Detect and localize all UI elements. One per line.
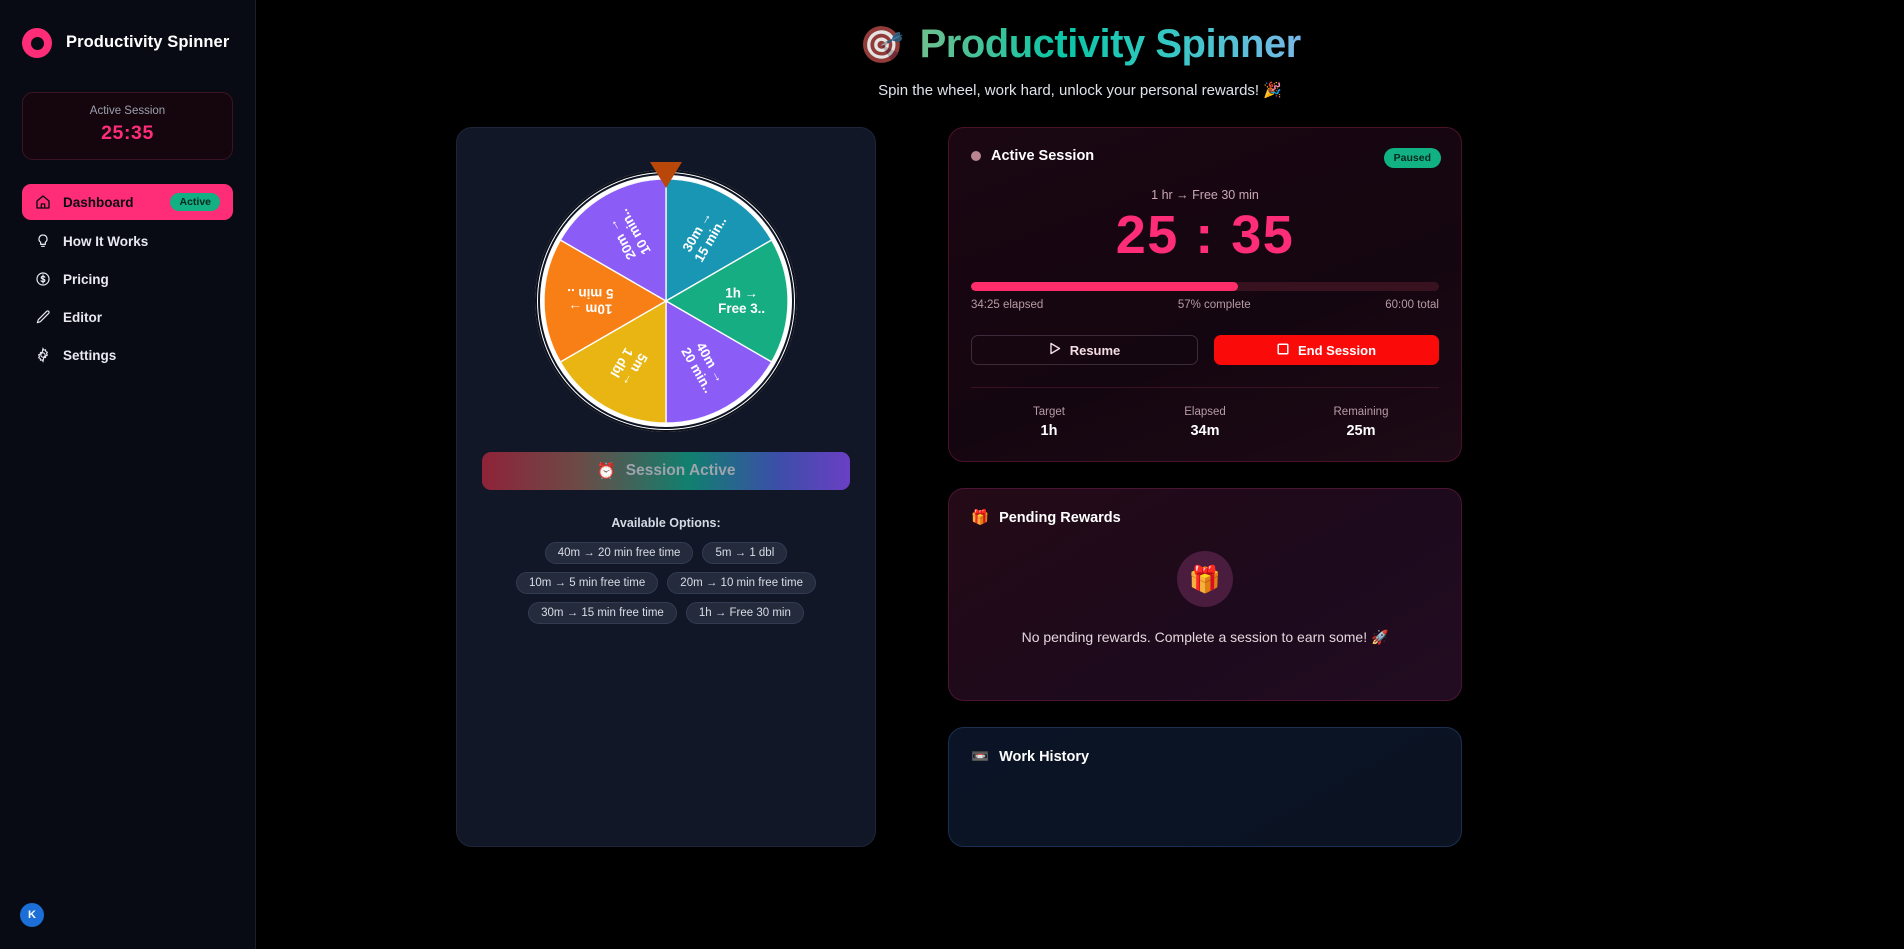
- pending-rewards-title-row: 🎁 Pending Rewards: [971, 509, 1439, 526]
- page-title: 🎯 Productivity Spinner: [859, 22, 1301, 67]
- avatar[interactable]: K: [20, 903, 44, 927]
- option-chip[interactable]: 40m → 20 min free time: [545, 542, 694, 564]
- stat-target: Target 1h: [971, 406, 1127, 439]
- complete-label: 57% complete: [1178, 299, 1251, 311]
- sidebar: Productivity Spinner Active Session 25:3…: [0, 0, 256, 949]
- stat-key: Remaining: [1283, 406, 1439, 418]
- app-root: Productivity Spinner Active Session 25:3…: [0, 0, 1904, 949]
- stat-remaining: Remaining 25m: [1283, 406, 1439, 439]
- option-chip[interactable]: 5m → 1 dbl: [702, 542, 787, 564]
- status-badge: Active: [170, 193, 220, 211]
- page-title-text: Productivity Spinner: [920, 22, 1301, 67]
- pencil-icon: [35, 309, 51, 325]
- sidebar-session-time: 25:35: [33, 122, 222, 145]
- status-dot-icon: [971, 151, 981, 161]
- spinner-ring-icon: [22, 28, 52, 58]
- pending-rewards-empty-state: 🎁 No pending rewards. Complete a session…: [949, 551, 1461, 646]
- option-chip[interactable]: 1h → Free 30 min: [686, 602, 804, 624]
- play-icon: [1049, 342, 1061, 358]
- sidebar-active-session-box: Active Session 25:35: [22, 92, 233, 160]
- active-session-title-row: Active Session: [971, 148, 1439, 164]
- right-column: Active Session Paused 1 hr → Free 30 min…: [948, 127, 1462, 847]
- spin-button-label: Session Active: [626, 462, 736, 480]
- sidebar-item-label: Editor: [63, 310, 220, 325]
- available-options-title: Available Options:: [481, 516, 851, 530]
- brand[interactable]: Productivity Spinner: [22, 28, 233, 58]
- wheel-segment-label: 10m →5 min ..: [567, 286, 613, 316]
- lightbulb-icon: [35, 233, 51, 249]
- session-progress-meta: 34:25 elapsed 57% complete 60:00 total: [971, 299, 1439, 311]
- sidebar-session-label: Active Session: [33, 105, 222, 117]
- wheel-outer-ring: 30m →15 min..1h →Free 3..40m →20 min..5m…: [535, 170, 797, 432]
- total-label: 60:00 total: [1385, 299, 1439, 311]
- stat-key: Elapsed: [1127, 406, 1283, 418]
- page-header: 🎯 Productivity Spinner Spin the wheel, w…: [256, 0, 1904, 99]
- work-history-title-row: 📼 Work History: [971, 748, 1439, 765]
- wheel-wrapper: 30m →15 min..1h →Free 3..40m →20 min..5m…: [535, 154, 797, 426]
- sidebar-item-settings[interactable]: Settings: [22, 338, 233, 372]
- spin-button[interactable]: ⏰ Session Active: [482, 452, 850, 490]
- session-reward-line: 1 hr → Free 30 min: [971, 188, 1439, 202]
- work-history-card: 📼 Work History: [948, 727, 1462, 847]
- sidebar-item-pricing[interactable]: Pricing: [22, 262, 233, 296]
- brand-name: Productivity Spinner: [66, 31, 229, 54]
- stat-elapsed: Elapsed 34m: [1127, 406, 1283, 439]
- option-chip[interactable]: 30m → 15 min free time: [528, 602, 677, 624]
- stat-value: 25m: [1283, 423, 1439, 439]
- stat-value: 34m: [1127, 423, 1283, 439]
- sidebar-item-label: Settings: [63, 348, 220, 363]
- gift-emoji-icon: 🎁: [971, 509, 989, 526]
- dollar-circle-icon: [35, 271, 51, 287]
- pending-rewards-title: Pending Rewards: [999, 510, 1121, 526]
- spinner-wheel-card: 30m →15 min..1h →Free 3..40m →20 min..5m…: [456, 127, 876, 847]
- sidebar-item-label: Dashboard: [63, 195, 158, 210]
- session-button-row: Resume End Session: [971, 335, 1439, 365]
- elapsed-label: 34:25 elapsed: [971, 299, 1043, 311]
- wheel-pointer-icon: [650, 162, 682, 188]
- stop-square-icon: [1277, 343, 1289, 358]
- resume-button[interactable]: Resume: [971, 335, 1198, 365]
- target-emoji-icon: 🎯: [859, 24, 903, 66]
- session-progress-track: [971, 282, 1439, 291]
- option-chip[interactable]: 20m → 10 min free time: [667, 572, 816, 594]
- sidebar-item-dashboard[interactable]: Dashboard Active: [22, 184, 233, 220]
- end-session-button[interactable]: End Session: [1214, 335, 1439, 365]
- gift-circle-icon: 🎁: [1177, 551, 1233, 607]
- work-history-title: Work History: [999, 749, 1089, 765]
- option-chip[interactable]: 10m → 5 min free time: [516, 572, 658, 594]
- stat-value: 1h: [971, 423, 1127, 439]
- sidebar-item-label: How It Works: [63, 234, 220, 249]
- alarm-clock-icon: ⏰: [596, 462, 615, 481]
- main-content: 🎯 Productivity Spinner Spin the wheel, w…: [256, 0, 1904, 949]
- pending-rewards-empty-text: No pending rewards. Complete a session t…: [1022, 629, 1389, 646]
- sidebar-item-label: Pricing: [63, 272, 220, 287]
- pending-rewards-card: 🎁 Pending Rewards 🎁 No pending rewards. …: [948, 488, 1462, 701]
- content-columns: 30m →15 min..1h →Free 3..40m →20 min..5m…: [256, 99, 1904, 847]
- available-options-list: 40m → 20 min free time 5m → 1 dbl 10m → …: [481, 542, 851, 624]
- session-status-badge: Paused: [1384, 148, 1441, 168]
- home-icon: [35, 194, 51, 210]
- videotape-emoji-icon: 📼: [971, 748, 989, 765]
- active-session-title: Active Session: [991, 148, 1094, 164]
- sidebar-item-editor[interactable]: Editor: [22, 300, 233, 334]
- sidebar-nav: Dashboard Active How It Works Pricing: [22, 184, 233, 372]
- end-session-button-label: End Session: [1298, 343, 1376, 358]
- wheel-svg[interactable]: 30m →15 min..1h →Free 3..40m →20 min..5m…: [544, 179, 788, 423]
- stat-key: Target: [971, 406, 1127, 418]
- session-stats-row: Target 1h Elapsed 34m Remaining 25m: [971, 387, 1439, 439]
- session-timer: 25 : 35: [971, 204, 1439, 266]
- gear-icon: [35, 347, 51, 363]
- sidebar-item-how-it-works[interactable]: How It Works: [22, 224, 233, 258]
- session-progress-fill: [971, 282, 1238, 291]
- resume-button-label: Resume: [1070, 343, 1121, 358]
- page-subtitle: Spin the wheel, work hard, unlock your p…: [256, 81, 1904, 99]
- active-session-card: Active Session Paused 1 hr → Free 30 min…: [948, 127, 1462, 462]
- avatar-initial: K: [28, 909, 36, 921]
